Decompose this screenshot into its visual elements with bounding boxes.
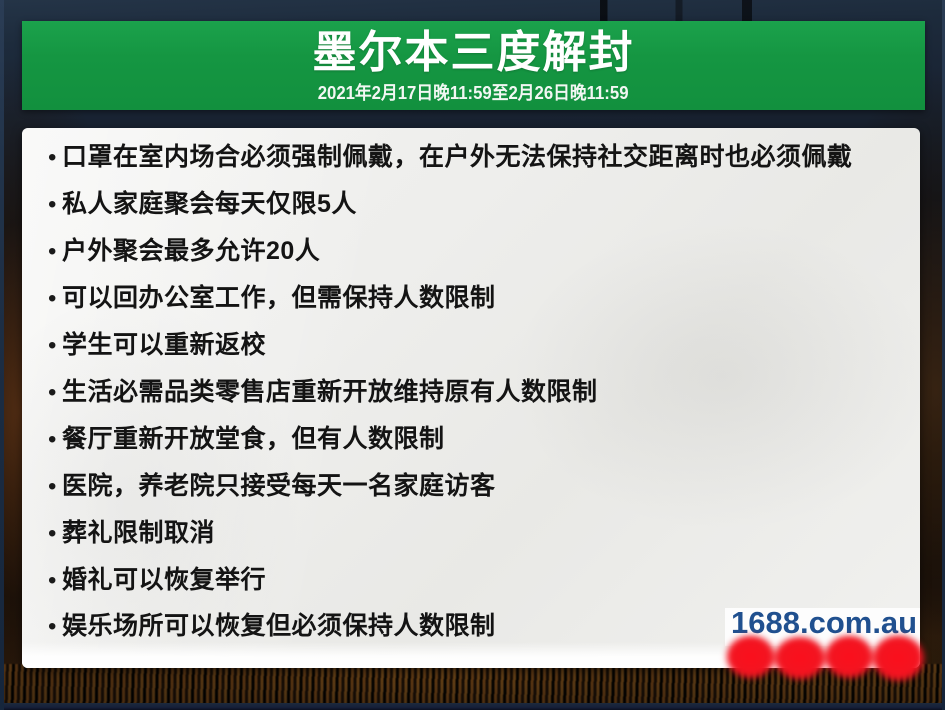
rule-text: 学生可以重新返校: [62, 322, 266, 369]
background-bottom-edge: [0, 703, 945, 710]
bullet-icon: •: [48, 510, 62, 557]
rules-card: • 口罩在室内场合必须强制佩戴，在户外无法保持社交距离时也必须佩戴 • 私人家庭…: [22, 128, 920, 668]
bullet-icon: •: [48, 322, 62, 369]
list-item: • 户外聚会最多允许20人: [48, 228, 910, 275]
rules-list: • 口罩在室内场合必须强制佩戴，在户外无法保持社交距离时也必须佩戴 • 私人家庭…: [48, 134, 910, 644]
list-item: • 私人家庭聚会每天仅限5人: [48, 181, 910, 228]
list-item: • 生活必需品类零售店重新开放维持原有人数限制: [48, 369, 910, 416]
rule-text: 葬礼限制取消: [62, 510, 215, 557]
bullet-icon: •: [48, 275, 62, 322]
rule-text: 生活必需品类零售店重新开放维持原有人数限制: [62, 369, 598, 416]
bullet-icon: •: [48, 557, 62, 604]
list-item: • 医院，养老院只接受每天一名家庭访客: [48, 463, 910, 510]
rule-text: 私人家庭聚会每天仅限5人: [62, 181, 357, 228]
slide-screenshot: 墨尔本三度解封 2021年2月17日晚11:59至2月26日晚11:59 • 口…: [0, 0, 945, 710]
list-item: • 婚礼可以恢复举行: [48, 557, 910, 604]
rule-text: 医院，养老院只接受每天一名家庭访客: [62, 463, 496, 510]
bullet-icon: •: [48, 605, 62, 644]
bullet-icon: •: [48, 416, 62, 463]
rule-text: 娱乐场所可以恢复但必须保持人数限制: [62, 604, 496, 644]
rule-text: 口罩在室内场合必须强制佩戴，在户外无法保持社交距离时也必须佩戴: [62, 134, 853, 181]
header-date-range: 2021年2月17日晚11:59至2月26日晚11:59: [318, 81, 629, 105]
list-item: • 可以回办公室工作，但需保持人数限制: [48, 275, 910, 322]
page-title: 墨尔本三度解封: [313, 25, 635, 81]
rule-text: 户外聚会最多允许20人: [62, 228, 320, 275]
rule-text: 婚礼可以恢复举行: [62, 557, 266, 604]
rule-text: 可以回办公室工作，但需保持人数限制: [62, 275, 496, 322]
bullet-icon: •: [48, 134, 62, 181]
background-left-edge: [0, 0, 4, 710]
bullet-icon: •: [48, 369, 62, 416]
rule-text: 餐厅重新开放堂食，但有人数限制: [62, 416, 445, 463]
list-item: • 学生可以重新返校: [48, 322, 910, 369]
list-item: • 葬礼限制取消: [48, 510, 910, 557]
header-banner: 墨尔本三度解封 2021年2月17日晚11:59至2月26日晚11:59: [22, 21, 925, 110]
list-item: • 口罩在室内场合必须强制佩戴，在户外无法保持社交距离时也必须佩戴: [48, 134, 910, 181]
bullet-icon: •: [48, 181, 62, 228]
watermark-red-banner: [722, 632, 927, 694]
bullet-icon: •: [48, 228, 62, 275]
bullet-icon: •: [48, 463, 62, 510]
list-item: • 餐厅重新开放堂食，但有人数限制: [48, 416, 910, 463]
